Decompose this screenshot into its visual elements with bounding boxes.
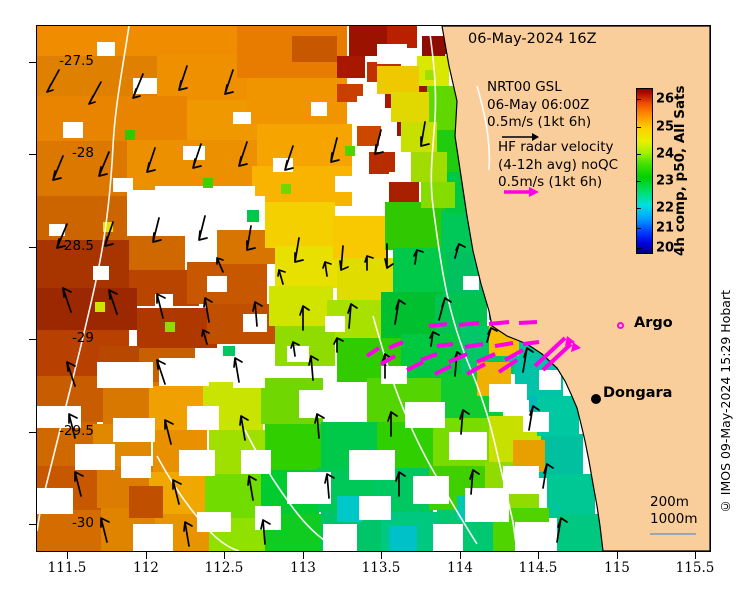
colorbar-tick bbox=[637, 99, 641, 100]
timestamp-title: 06-May-2024 16Z bbox=[468, 31, 597, 47]
gsl-annotation: NRT00 GSL 06-May 06:00Z 0.5m/s (1kt 6h) bbox=[487, 79, 591, 132]
hf-radar-annotation: HF radar velocity (4-12h avg) noQC 0.5m/… bbox=[498, 139, 618, 192]
map-plot-area bbox=[36, 25, 711, 552]
xtick-mark bbox=[381, 552, 382, 559]
dongara-marker-label: Dongara bbox=[603, 385, 672, 401]
depth-legend-rule bbox=[650, 533, 696, 535]
depth-legend-deep: 1000m bbox=[650, 511, 698, 528]
colorbar-tick bbox=[637, 154, 641, 155]
xtick-label: 115 bbox=[604, 560, 630, 576]
xtick-label: 111.5 bbox=[48, 560, 87, 576]
figure-root: -27.5 -28 -28.5 -29 -29.5 -30 111.5 112 … bbox=[0, 0, 740, 592]
colorbar-tick bbox=[637, 127, 641, 128]
dongara-marker-icon[interactable] bbox=[591, 394, 601, 404]
colorbar-title: 4h comp, p50, All Sats bbox=[672, 88, 688, 254]
xtick-mark bbox=[67, 552, 68, 559]
ytick-mark bbox=[29, 524, 36, 525]
xtick-label: 112.5 bbox=[205, 560, 244, 576]
xtick-label: 112 bbox=[133, 560, 159, 576]
xtick-mark bbox=[617, 552, 618, 559]
hf-title-label: HF radar velocity bbox=[498, 139, 618, 157]
colorbar-tick bbox=[637, 208, 641, 209]
depth-legend: 200m 1000m bbox=[650, 494, 698, 528]
argo-marker-label: Argo bbox=[634, 315, 673, 331]
depth-legend-shallow: 200m bbox=[650, 494, 698, 511]
xtick-label: 113 bbox=[290, 560, 316, 576]
xtick-label: 114 bbox=[447, 560, 473, 576]
xtick-mark bbox=[303, 552, 304, 559]
xtick-label: 114.5 bbox=[519, 560, 558, 576]
ytick-mark bbox=[29, 247, 36, 248]
ytick-mark bbox=[29, 339, 36, 340]
xtick-mark bbox=[695, 552, 696, 559]
copyright-text: © IMOS 09-May-2024 15:29 Hobart bbox=[718, 290, 733, 514]
colorbar-tick bbox=[637, 181, 641, 182]
xtick-mark bbox=[460, 552, 461, 559]
xtick-label: 113.5 bbox=[362, 560, 401, 576]
ytick-mark bbox=[29, 154, 36, 155]
ytick-mark bbox=[29, 62, 36, 63]
gsl-time-label: 06-May 06:00Z bbox=[487, 97, 591, 115]
gsl-product-label: NRT00 GSL bbox=[487, 79, 591, 97]
xtick-mark bbox=[538, 552, 539, 559]
xtick-mark bbox=[146, 552, 147, 559]
xtick-label: 115.5 bbox=[676, 560, 715, 576]
sst-raster bbox=[37, 26, 710, 551]
colorbar bbox=[636, 88, 653, 254]
argo-marker-icon[interactable] bbox=[617, 322, 624, 329]
gsl-scale-label: 0.5m/s (1kt 6h) bbox=[487, 114, 591, 132]
ytick-mark bbox=[29, 432, 36, 433]
colorbar-tick bbox=[637, 248, 641, 249]
xtick-mark bbox=[224, 552, 225, 559]
hf-avg-label: (4-12h avg) noQC bbox=[498, 157, 618, 175]
colorbar-tick bbox=[637, 228, 641, 229]
hf-reference-arrow bbox=[502, 186, 540, 198]
